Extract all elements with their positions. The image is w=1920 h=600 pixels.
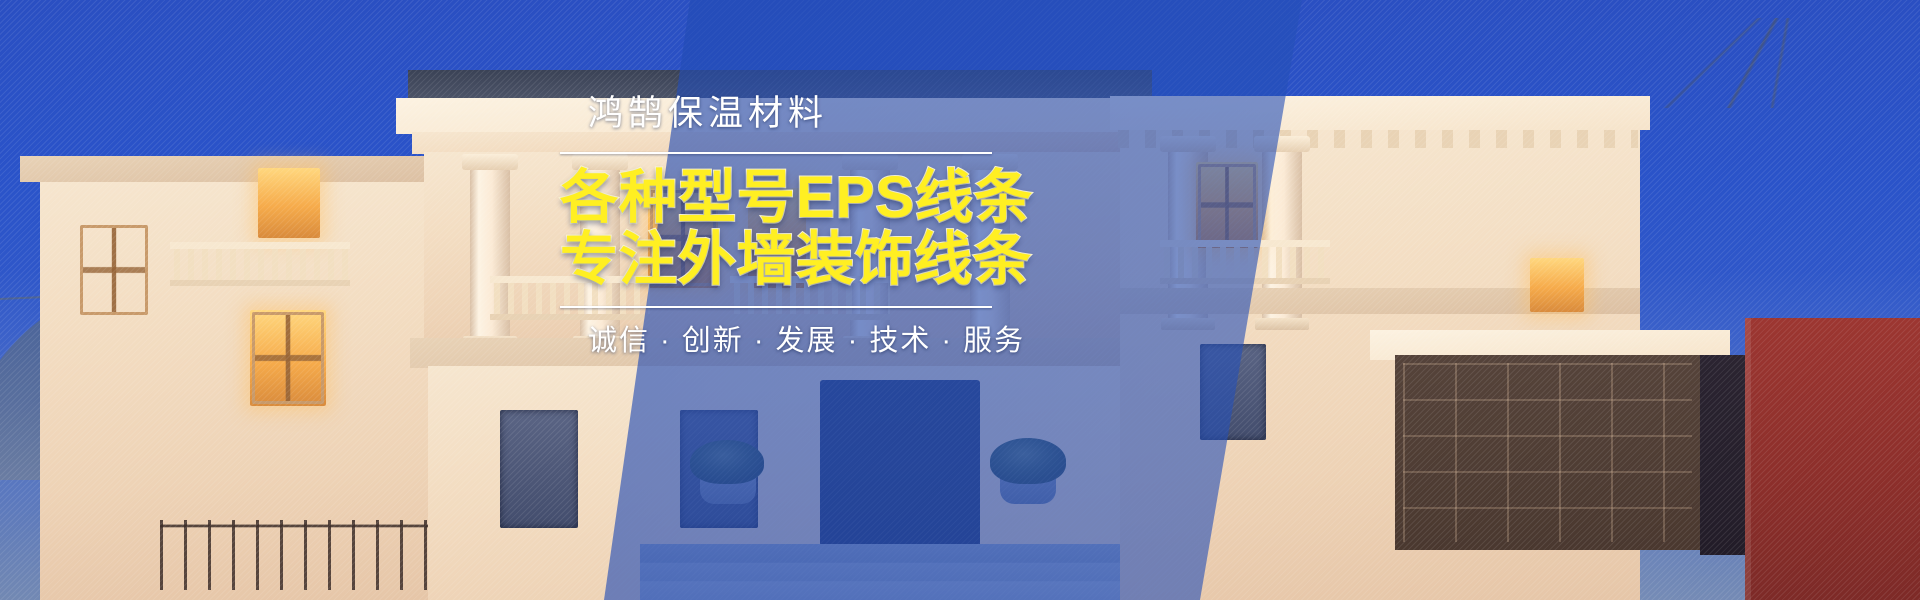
garage-door (1395, 355, 1700, 550)
right-window-dark (1200, 344, 1266, 440)
red-container-wall (1745, 318, 1920, 600)
headline-line-1: 各种型号EPS线条 (560, 168, 1200, 228)
shrub-right (990, 438, 1066, 484)
left-wing-cornice (20, 156, 460, 182)
entrance-door (820, 380, 980, 560)
entrance-steps (640, 544, 1160, 600)
garage-door-panels (1403, 363, 1692, 542)
lower-window-1 (500, 410, 578, 528)
headline-line-2: 专注外墙装饰线条 (560, 230, 1200, 290)
left-window-frame-2 (252, 312, 324, 404)
left-window-frame-1 (80, 225, 148, 315)
promo-banner: 鸿鹄保温材料 各种型号EPS线条 专注外墙装饰线条 诚信 · 创新 · 发展 ·… (0, 0, 1920, 600)
divider-bottom (560, 306, 992, 308)
left-lit-window-2 (258, 168, 320, 238)
company-name: 鸿鹄保温材料 (588, 92, 1200, 136)
banner-text-block: 鸿鹄保温材料 各种型号EPS线条 专注外墙装饰线条 诚信 · 创新 · 发展 ·… (560, 92, 1200, 360)
shrub-left (690, 440, 764, 484)
left-balustrade (170, 248, 350, 282)
right-lit-window-2 (1530, 258, 1584, 312)
right-window-frame-1 (1198, 164, 1256, 246)
divider-top (560, 152, 992, 154)
tagline: 诚信 · 创新 · 发展 · 技术 · 服务 (588, 322, 1200, 360)
